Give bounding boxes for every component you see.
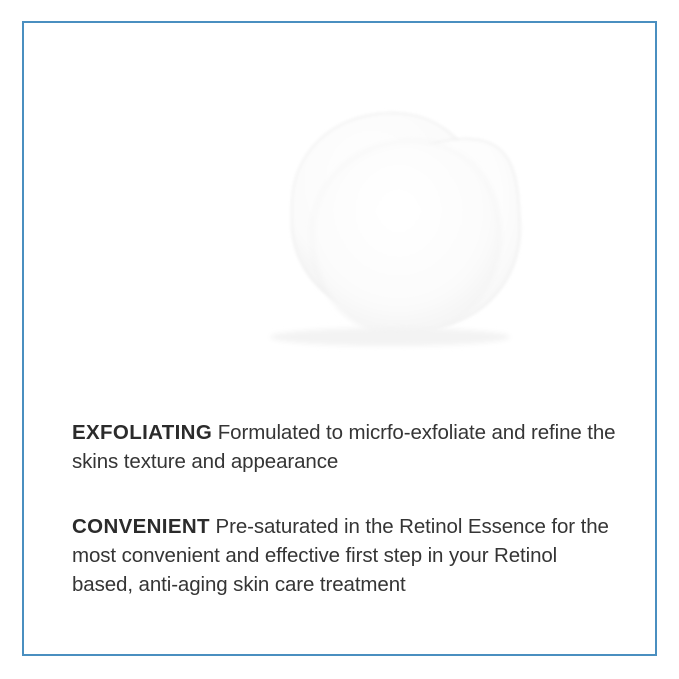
feature-label-convenient: CONVENIENT [72, 515, 210, 538]
product-image-cotton-rounds [140, 55, 540, 355]
product-feature-card: EXFOLIATING Formulated to micrfo-exfolia… [0, 0, 679, 679]
feature-list: EXFOLIATING Formulated to micrfo-exfolia… [72, 418, 617, 599]
feature-label-exfoliating: EXFOLIATING [72, 421, 212, 444]
feature-item-exfoliating: EXFOLIATING Formulated to micrfo-exfolia… [72, 418, 617, 476]
product-shadow [270, 328, 510, 346]
cotton-round-front [312, 141, 500, 335]
feature-item-convenient: CONVENIENT Pre-saturated in the Retinol … [72, 512, 617, 599]
